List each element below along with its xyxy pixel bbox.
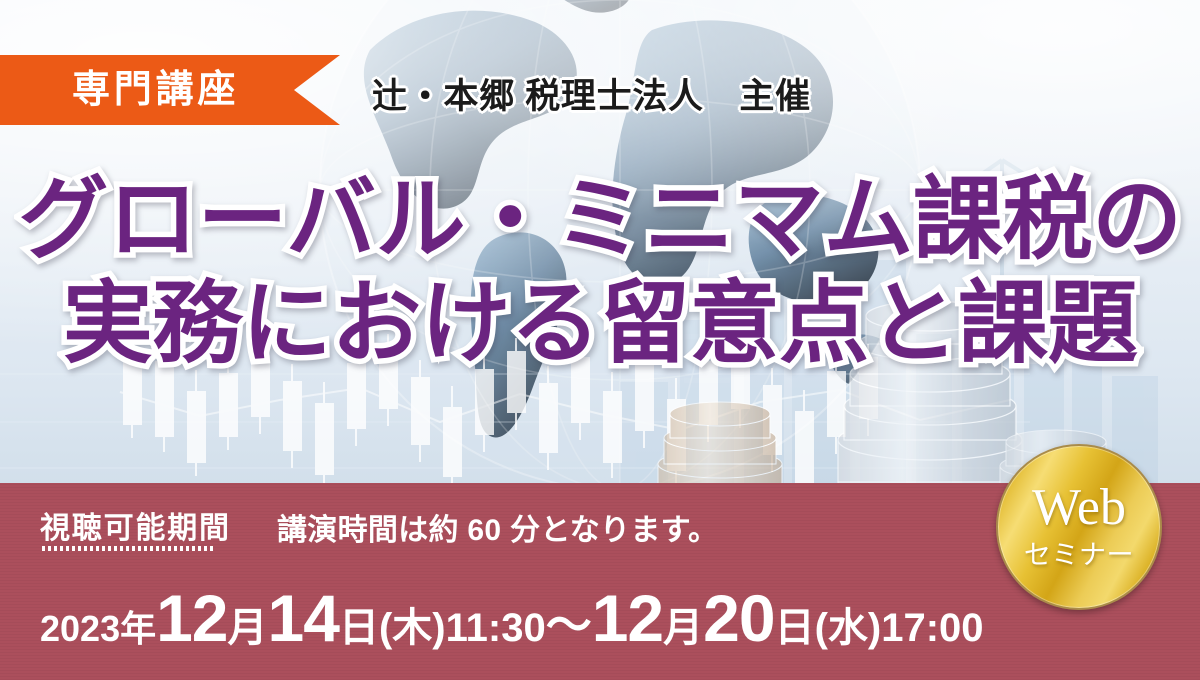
date-start-time: 11:30: [446, 608, 546, 648]
date-day-unit-2: 日: [775, 608, 815, 648]
date-month-unit-2: 月: [663, 608, 703, 648]
date-end-month: 12: [592, 585, 663, 651]
course-category-ribbon: 専門講座: [0, 55, 340, 125]
seminar-title-line-1: グローバル・ミニマム課税の: [0, 168, 1200, 272]
seminar-title-line-2: 実務における留意点と課題: [0, 272, 1200, 376]
seminar-banner: 専門講座 辻・本郷 税理士法人 主催 グローバル・ミニマム課税の 実務における留…: [0, 0, 1200, 680]
lecture-duration-note: 講演時間は約 60 分となります。: [277, 505, 718, 549]
date-month-unit-1: 月: [228, 608, 268, 648]
date-start-month: 12: [156, 585, 227, 651]
web-seminar-badge-title: Web: [1032, 482, 1126, 534]
date-start-weekday: (木): [379, 608, 446, 648]
web-seminar-badge-subtitle: セミナー: [1024, 542, 1134, 569]
course-category-label: 専門講座: [0, 71, 239, 109]
seminar-title: グローバル・ミニマム課税の 実務における留意点と課題: [0, 168, 1200, 377]
date-year: 2023年: [40, 611, 156, 647]
date-end-time: 17:00: [881, 608, 983, 648]
date-end-day: 20: [703, 585, 774, 651]
date-day-unit-1: 日: [339, 608, 379, 648]
viewing-period-date-range: 2023年 12 月 14 日 (木) 11:30 ～ 12 月 20 日 (水…: [40, 585, 984, 651]
web-seminar-badge: Web セミナー: [996, 444, 1162, 610]
viewing-period-label: 視聴可能期間: [40, 503, 231, 547]
viewing-period-dotted-underline: [42, 546, 214, 551]
date-start-day: 14: [268, 585, 339, 651]
organizer-text: 辻・本郷 税理士法人 主催: [372, 68, 811, 119]
date-end-weekday: (水): [815, 608, 882, 648]
date-range-separator: ～: [546, 602, 592, 648]
